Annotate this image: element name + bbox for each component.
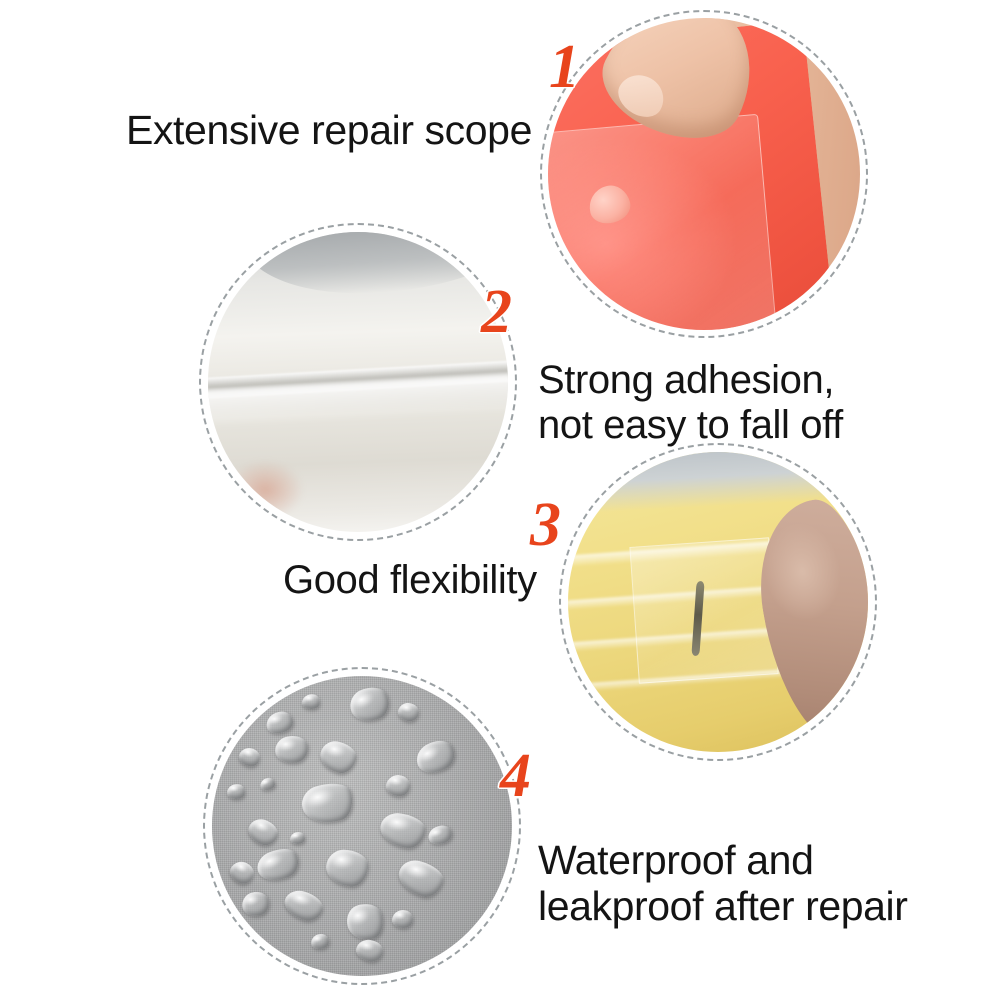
waterproof-droplets-photo [212, 676, 512, 976]
skin-tint [226, 460, 304, 520]
feature-caption-1: Extensive repair scope [126, 108, 532, 154]
water-droplet [290, 832, 305, 844]
infographic-canvas: 1 Extensive repair scope 2 Good flexibil… [0, 0, 1000, 1000]
feature-2-image-circle [208, 232, 508, 532]
feature-caption-4: Waterproof and leakproof after repair [538, 838, 908, 930]
feature-number-1: 1 [549, 36, 580, 98]
feature-4-image-circle [212, 676, 512, 976]
feature-caption-3: Strong adhesion, not easy to fall off [538, 358, 843, 448]
feature-3-image-circle [568, 452, 868, 752]
red-fabric-repair-photo [548, 18, 860, 330]
feature-1-image-circle [548, 18, 860, 330]
feature-number-4: 4 [500, 745, 531, 807]
feature-number-2: 2 [481, 281, 512, 343]
flexible-tape-photo [208, 232, 508, 532]
transparent-repair-patch [629, 537, 778, 683]
transparent-repair-patch [548, 114, 778, 330]
feature-number-3: 3 [530, 494, 561, 556]
feature-caption-2: Good flexibility [283, 558, 537, 603]
yellow-tear-repair-photo [568, 452, 868, 752]
